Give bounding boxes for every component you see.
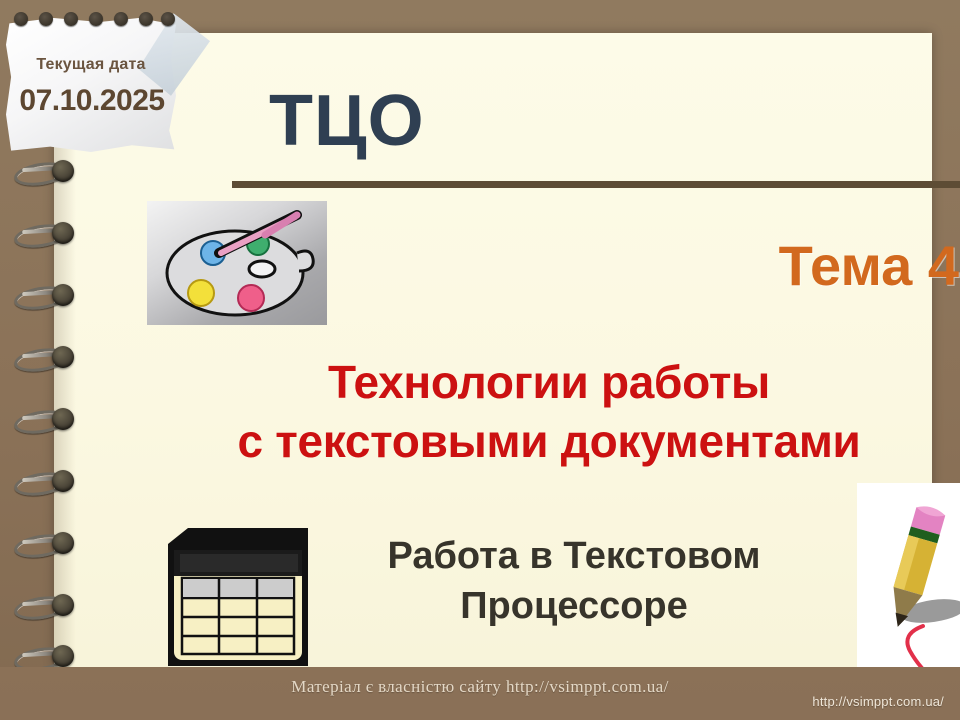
main-title-line-2: с текстовыми документами (154, 412, 944, 471)
topic-label: Тема 4 (54, 233, 959, 298)
main-title-line-1: Технологии работы (154, 353, 944, 412)
notebook-page: ТЦО Тема 4 Технологии работы с текстовым… (54, 33, 932, 667)
current-date-note: Текущая дата 07.10.2025 (6, 4, 178, 154)
subtitle-line-1: Работа в Текстовом (324, 531, 824, 581)
subtitle-line-2: Процессоре (324, 581, 824, 631)
pencil-icon (857, 483, 960, 681)
note-perforation (14, 12, 174, 26)
slide-canvas: ТЦО Тема 4 Технологии работы с текстовым… (0, 0, 960, 720)
footer-url[interactable]: http://vsimppt.com.ua/ (812, 694, 944, 709)
title-divider (232, 181, 960, 188)
main-title: Технологии работы с текстовыми документа… (154, 353, 944, 471)
pencil-drawing-image (857, 483, 960, 681)
subtitle: Работа в Текстовом Процессоре (324, 531, 824, 631)
spreadsheet-table-icon (158, 520, 316, 678)
page-title: ТЦО (269, 85, 425, 157)
table-icon (158, 520, 316, 678)
date-note-caption: Текущая дата (6, 56, 176, 74)
date-note-value: 07.10.2025 (6, 84, 178, 118)
